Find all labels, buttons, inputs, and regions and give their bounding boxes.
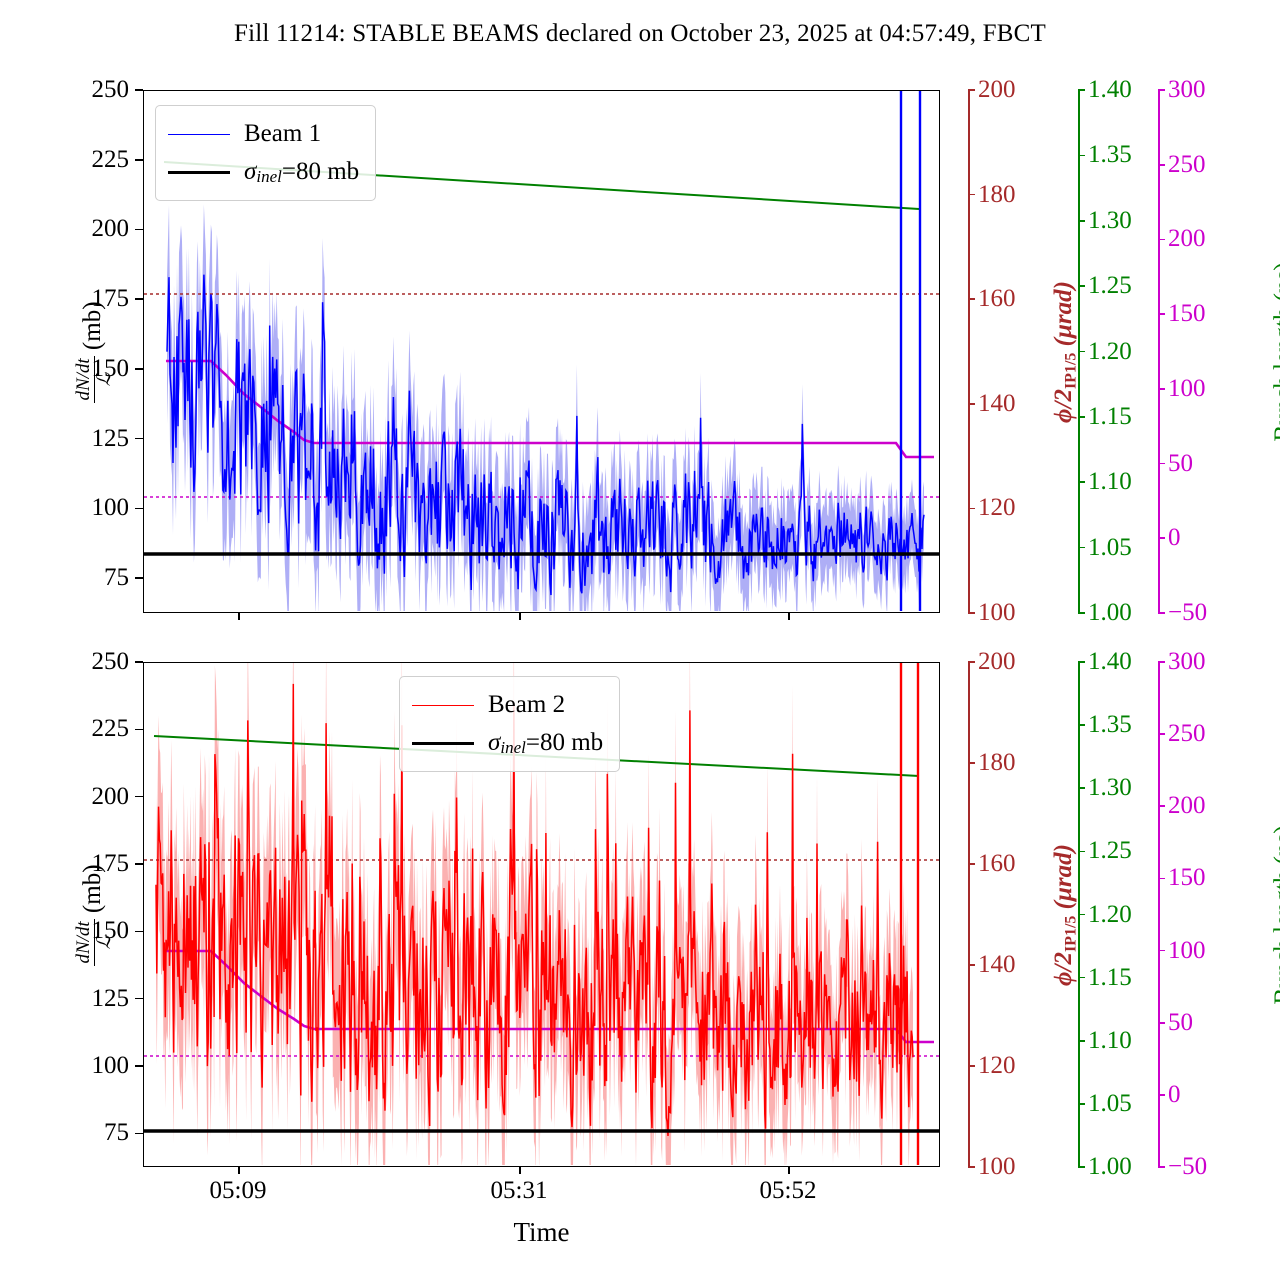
right-axis-tick-label: 180 bbox=[978, 181, 1016, 209]
x-tick-mark-top-panel bbox=[238, 613, 240, 620]
right-axis-tick-label: 100 bbox=[1168, 375, 1206, 403]
right-axis-tick-mark bbox=[1158, 950, 1165, 952]
legend-entry-beam2: Beam 2 bbox=[412, 686, 603, 724]
right-axis-tick-mark bbox=[1078, 1103, 1085, 1105]
right-axis-tick-label: 1.30 bbox=[1088, 207, 1132, 235]
right-axis-tick-label: 100 bbox=[978, 599, 1016, 627]
right-axis-tick-label: 50 bbox=[1168, 1009, 1193, 1037]
y-tick-mark bbox=[135, 577, 143, 579]
y-axis-tick-label: 100 bbox=[63, 494, 129, 522]
right-axis-tick-label: −50 bbox=[1168, 1153, 1207, 1181]
right-axis-tick-mark bbox=[1158, 239, 1165, 241]
panel-beam1: Beam 1 σinel=80 mb bbox=[143, 90, 940, 613]
y-tick-mark bbox=[135, 1065, 143, 1067]
right-axis-tick-mark bbox=[1158, 89, 1165, 91]
right-axis-tick-mark bbox=[1078, 155, 1085, 157]
right-axis-tick-label: 140 bbox=[978, 390, 1016, 418]
legend-entry-sigma-inel: σinel=80 mb bbox=[168, 153, 359, 191]
right-axis-tick-mark bbox=[1078, 1166, 1085, 1168]
y-tick-mark bbox=[135, 931, 143, 933]
right-axis-tick-label: 100 bbox=[978, 1153, 1016, 1181]
y-tick-mark bbox=[135, 298, 143, 300]
legend-swatch-beam2 bbox=[412, 705, 474, 706]
y-axis-tick-label: 250 bbox=[63, 648, 129, 676]
legend-label-beam1: Beam 1 bbox=[244, 120, 321, 148]
right-axis-tick-label: 1.05 bbox=[1088, 534, 1132, 562]
right-axis-tick-mark bbox=[1078, 977, 1085, 979]
right-axis-tick-mark bbox=[1158, 388, 1165, 390]
right-axis-tick-label: 1.10 bbox=[1088, 1027, 1132, 1055]
y-axis-tick-label: 100 bbox=[63, 1052, 129, 1080]
right-axis-spine bbox=[1158, 662, 1160, 1167]
x-tick-mark bbox=[519, 1167, 521, 1174]
x-tick-mark bbox=[238, 1167, 240, 1174]
right-axis-tick-label: 120 bbox=[978, 494, 1016, 522]
right-axis-tick-label: 1.10 bbox=[1088, 468, 1132, 496]
right-axis-tick-mark bbox=[968, 964, 975, 966]
right-axis-tick-label: 300 bbox=[1168, 76, 1206, 104]
y-axis-tick-label: 225 bbox=[63, 715, 129, 743]
right-axis-tick-mark bbox=[1158, 463, 1165, 465]
legend-label-beam2: Beam 2 bbox=[488, 691, 565, 719]
right-axis-tick-mark bbox=[1078, 1040, 1085, 1042]
y-axis-title-left: dN/dtℒ (mb) bbox=[73, 815, 113, 1015]
figure: Fill 11214: STABLE BEAMS declared on Oct… bbox=[0, 0, 1280, 1280]
y-axis-tick-label: 200 bbox=[63, 215, 129, 243]
figure-title: Fill 11214: STABLE BEAMS declared on Oct… bbox=[0, 20, 1280, 48]
right-axis-tick-label: 1.00 bbox=[1088, 1153, 1132, 1181]
right-axis-tick-mark bbox=[968, 1065, 975, 1067]
right-axis-tick-label: 1.05 bbox=[1088, 1090, 1132, 1118]
right-axis-tick-label: 250 bbox=[1168, 151, 1206, 179]
right-axis-tick-label: 150 bbox=[1168, 300, 1206, 328]
right-axis-tick-mark bbox=[1158, 661, 1165, 663]
right-axis-title: Bunch length (ns) bbox=[1264, 202, 1280, 502]
y-tick-mark bbox=[135, 438, 143, 440]
right-axis-tick-mark bbox=[968, 194, 975, 196]
y-tick-mark bbox=[135, 159, 143, 161]
x-axis-tick-label: 05:31 bbox=[491, 1177, 548, 1205]
right-axis-tick-label: 0 bbox=[1168, 524, 1181, 552]
right-axis-tick-label: 200 bbox=[978, 76, 1016, 104]
right-axis-tick-label: 0 bbox=[1168, 1081, 1181, 1109]
legend-label-sigma-inel: σinel=80 mb bbox=[244, 158, 359, 187]
x-tick-mark-top-panel bbox=[519, 613, 521, 620]
y-tick-mark bbox=[135, 229, 143, 231]
y-axis-tick-label: 75 bbox=[63, 564, 129, 592]
legend-beam2: Beam 2 σinel=80 mb bbox=[399, 676, 620, 772]
right-axis-tick-mark bbox=[1158, 1094, 1165, 1096]
right-axis-tick-label: 180 bbox=[978, 749, 1016, 777]
right-axis-title: Bunch length (ns) bbox=[1264, 765, 1280, 1065]
x-tick-mark-top-panel bbox=[788, 613, 790, 620]
right-axis-tick-mark bbox=[968, 1166, 975, 1168]
right-axis-tick-mark bbox=[1158, 313, 1165, 315]
y-tick-mark bbox=[135, 89, 143, 91]
y-axis-tick-label: 250 bbox=[63, 76, 129, 104]
right-axis-tick-label: 1.40 bbox=[1088, 76, 1132, 104]
right-axis-tick-mark bbox=[968, 298, 975, 300]
right-axis-tick-mark bbox=[1158, 164, 1165, 166]
y-axis-tick-label: 225 bbox=[63, 146, 129, 174]
right-axis-tick-label: 1.15 bbox=[1088, 403, 1132, 431]
x-tick-mark bbox=[788, 1167, 790, 1174]
right-axis-tick-label: 160 bbox=[978, 285, 1016, 313]
right-axis-tick-mark bbox=[1078, 351, 1085, 353]
y-tick-mark bbox=[135, 863, 143, 865]
x-axis-tick-label: 05:52 bbox=[760, 1177, 817, 1205]
right-axis-tick-mark bbox=[1158, 878, 1165, 880]
right-axis-tick-label: 1.30 bbox=[1088, 774, 1132, 802]
legend-entry-beam1: Beam 1 bbox=[168, 115, 359, 153]
right-axis-tick-mark bbox=[1158, 733, 1165, 735]
right-axis-tick-label: 160 bbox=[978, 850, 1016, 878]
y-tick-mark bbox=[135, 1133, 143, 1135]
right-axis-tick-mark bbox=[1158, 805, 1165, 807]
right-axis-tick-label: 50 bbox=[1168, 450, 1193, 478]
right-axis-tick-label: 150 bbox=[1168, 864, 1206, 892]
right-axis-tick-mark bbox=[968, 661, 975, 663]
right-axis-tick-mark bbox=[968, 89, 975, 91]
right-axis-tick-mark bbox=[1078, 787, 1085, 789]
right-axis-tick-label: 200 bbox=[1168, 225, 1206, 253]
panel-beam2: Beam 2 σinel=80 mb bbox=[143, 662, 940, 1167]
right-axis-spine bbox=[968, 662, 970, 1167]
legend-swatch-sigma-inel bbox=[168, 171, 230, 174]
right-axis-tick-mark bbox=[1078, 285, 1085, 287]
y-tick-mark bbox=[135, 729, 143, 731]
right-axis-tick-mark bbox=[1158, 1022, 1165, 1024]
y-tick-mark bbox=[135, 796, 143, 798]
y-tick-mark bbox=[135, 661, 143, 663]
right-axis-tick-mark bbox=[968, 508, 975, 510]
right-axis-tick-label: 1.20 bbox=[1088, 901, 1132, 929]
right-axis-tick-mark bbox=[1158, 1166, 1165, 1168]
y-axis-title-left: dN/dtℒ (mb) bbox=[73, 252, 113, 452]
right-axis-tick-mark bbox=[1078, 612, 1085, 614]
legend-beam1: Beam 1 σinel=80 mb bbox=[155, 105, 376, 201]
right-axis-tick-label: 1.20 bbox=[1088, 338, 1132, 366]
right-axis-tick-label: 200 bbox=[1168, 792, 1206, 820]
right-axis-tick-label: 1.25 bbox=[1088, 272, 1132, 300]
right-axis-tick-mark bbox=[1078, 724, 1085, 726]
right-axis-tick-label: 1.40 bbox=[1088, 648, 1132, 676]
right-axis-tick-label: 1.35 bbox=[1088, 711, 1132, 739]
y-axis-tick-label: 75 bbox=[63, 1119, 129, 1147]
right-axis-tick-label: 300 bbox=[1168, 648, 1206, 676]
right-axis-tick-mark bbox=[968, 403, 975, 405]
legend-label-sigma-inel-beam2: σinel=80 mb bbox=[488, 729, 603, 758]
y-tick-mark bbox=[135, 998, 143, 1000]
right-axis-tick-label: 120 bbox=[978, 1052, 1016, 1080]
right-axis-tick-label: 200 bbox=[978, 648, 1016, 676]
right-axis-tick-label: 1.15 bbox=[1088, 964, 1132, 992]
legend-swatch-beam1 bbox=[168, 134, 230, 135]
right-axis-tick-label: −50 bbox=[1168, 599, 1207, 627]
right-axis-tick-mark bbox=[1078, 481, 1085, 483]
right-axis-tick-mark bbox=[968, 612, 975, 614]
right-axis-tick-label: 250 bbox=[1168, 720, 1206, 748]
right-axis-tick-label: 1.25 bbox=[1088, 837, 1132, 865]
right-axis-tick-label: 100 bbox=[1168, 937, 1206, 965]
right-axis-tick-mark bbox=[1078, 416, 1085, 418]
right-axis-tick-mark bbox=[1078, 220, 1085, 222]
x-axis-tick-label: 05:09 bbox=[210, 1177, 267, 1205]
x-axis-title: Time bbox=[143, 1217, 940, 1248]
right-axis-spine bbox=[1158, 90, 1160, 613]
right-axis-tick-mark bbox=[1078, 661, 1085, 663]
y-axis-tick-label: 200 bbox=[63, 783, 129, 811]
y-tick-mark bbox=[135, 368, 143, 370]
right-axis-tick-mark bbox=[968, 863, 975, 865]
right-axis-tick-mark bbox=[968, 762, 975, 764]
right-axis-tick-label: 140 bbox=[978, 951, 1016, 979]
right-axis-tick-label: 1.35 bbox=[1088, 141, 1132, 169]
right-axis-tick-mark bbox=[1158, 537, 1165, 539]
right-axis-tick-mark bbox=[1158, 612, 1165, 614]
right-axis-tick-mark bbox=[1078, 914, 1085, 916]
right-axis-spine bbox=[968, 90, 970, 613]
right-axis-tick-mark bbox=[1078, 89, 1085, 91]
right-axis-tick-mark bbox=[1078, 851, 1085, 853]
right-axis-tick-label: 1.00 bbox=[1088, 599, 1132, 627]
legend-swatch-sigma-inel-beam2 bbox=[412, 742, 474, 745]
legend-entry-sigma-inel-beam2: σinel=80 mb bbox=[412, 724, 603, 762]
y-tick-mark bbox=[135, 508, 143, 510]
right-axis-tick-mark bbox=[1078, 547, 1085, 549]
